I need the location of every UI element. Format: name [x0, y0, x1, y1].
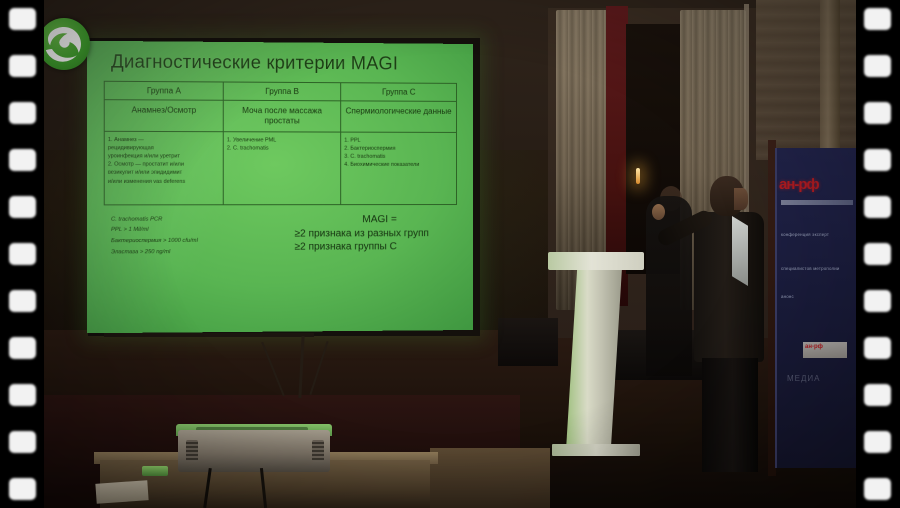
cell-a-line-5: везикулит и/или эпидидимит	[108, 169, 220, 177]
projector-body	[178, 430, 330, 472]
film-sprocket-hole	[9, 478, 36, 500]
banner-line-3: анонс	[781, 294, 794, 299]
table-cell-group-b: 1. Увеличение PML 2. C. trachomatis	[223, 132, 340, 205]
film-sprocket-hole	[864, 431, 891, 453]
film-sprocket-hole	[864, 196, 891, 218]
presenter-hand	[652, 204, 665, 220]
banner-title: ан-рф	[777, 176, 857, 193]
cell-a-line-6: и/или изменения vas deferens	[108, 177, 220, 185]
cell-c-line-1: 1. PPL	[344, 137, 453, 145]
cell-a-line-4: 2. Осмотр — простатит и/или	[108, 161, 220, 169]
film-sprocket-hole	[9, 8, 36, 30]
footnote-3: Бактериоспермия > 1000 cfu/ml	[111, 235, 286, 246]
table-row-criteria: 1. Анамнез — рецидивирующая уроинфекция …	[104, 131, 456, 204]
presenter-shirt	[732, 216, 748, 286]
film-sprocket-hole	[864, 243, 891, 265]
projector-remote	[142, 466, 168, 476]
film-sprocket-hole	[9, 337, 36, 359]
table-subheader-b: Моча после массажа простаты	[223, 100, 340, 132]
rollup-banner: ан-рф конференция эксперт специалистов м…	[775, 148, 857, 468]
film-sprocket-hole	[864, 290, 891, 312]
projector-vent-left	[186, 440, 198, 462]
film-sprocket-hole	[9, 431, 36, 453]
magi-equals-label: MAGI =	[290, 214, 460, 225]
podium-top-surface	[548, 252, 644, 270]
presenter	[690, 176, 772, 472]
film-sprocket-hole	[864, 55, 891, 77]
cell-c-line-4: 4. Биохимические показатели	[344, 161, 453, 169]
film-sprocket-hole	[864, 8, 891, 30]
film-sprocket-hole	[864, 337, 891, 359]
magi-definition-line-2: ≥2 признака группы С	[290, 240, 460, 254]
podium-base	[552, 444, 640, 456]
film-sprocket-hole	[9, 149, 36, 171]
table-header-group-c: Группа С	[341, 83, 457, 102]
magi-criteria-table: Группа А Группа В Группа С Анамнез/Осмот…	[104, 81, 457, 205]
cell-c-line-2: 2. Бактериоспермия	[344, 145, 453, 153]
green-circular-swirl-logo	[38, 18, 90, 70]
film-sprocket-hole	[864, 384, 891, 406]
film-sprocket-hole	[9, 55, 36, 77]
banner-line-1: конференция эксперт	[781, 232, 829, 237]
ornate-wall-panel	[756, 0, 858, 160]
screen-bottom-bar	[104, 333, 314, 337]
banner-footer-text: МЕДИА	[787, 374, 821, 383]
projection-screen: Диагностические критерии MAGI Группа А Г…	[87, 41, 473, 333]
table-cell-group-c: 1. PPL 2. Бактериоспермия 3. C. trachoma…	[341, 132, 457, 204]
cell-c-line-3: 3. C. trachomatis	[344, 153, 453, 161]
table-header-group-b: Группа В	[223, 82, 340, 101]
table-row-group-headers: Группа А Группа В Группа С	[104, 81, 456, 101]
presenter-face	[734, 188, 748, 210]
slide-title: Диагностические критерии MAGI	[99, 51, 462, 75]
film-sprocket-hole	[9, 196, 36, 218]
slide-footnotes: C. trachomatis PCR PPL > 1 Mil/ml Бактер…	[111, 214, 286, 258]
table-row-subheaders: Анамнез/Осмотр Моча после массажа проста…	[104, 100, 456, 133]
magi-definition: MAGI = ≥2 признака из разных групп ≥2 пр…	[290, 214, 460, 255]
slide-criteria-section: C. trachomatis PCR PPL > 1 Mil/ml Бактер…	[107, 214, 462, 276]
video-frame: Диагностические критерии MAGI Группа А Г…	[0, 0, 900, 508]
table-cell-group-a: 1. Анамнез — рецидивирующая уроинфекция …	[104, 131, 223, 204]
table-header-group-a: Группа А	[104, 81, 223, 100]
film-sprocket-hole	[9, 384, 36, 406]
film-sprocket-hole	[9, 243, 36, 265]
projector-vent-right	[312, 440, 324, 462]
cell-b-line-2: 2. C. trachomatis	[227, 145, 337, 153]
paper-sheet	[95, 480, 148, 504]
cell-b-line-1: 1. Увеличение PML	[227, 136, 337, 144]
side-table	[430, 448, 550, 508]
cell-a-line-1: 1. Анамнез —	[108, 136, 220, 145]
film-sprocket-hole	[864, 102, 891, 124]
cell-a-line-2: рецидивирующая	[108, 144, 220, 153]
filmstrip-left	[0, 0, 44, 508]
table-subheader-c: Спермиологические данные	[341, 101, 457, 133]
film-sprocket-hole	[9, 102, 36, 124]
film-sprocket-hole	[864, 478, 891, 500]
table-subheader-a: Анамнез/Осмотр	[104, 100, 223, 132]
presenter-legs	[702, 358, 758, 472]
candle-light	[636, 168, 640, 184]
footnote-4: Эластаза > 250 ng/ml	[111, 246, 286, 257]
footnote-1: C. trachomatis PCR	[111, 214, 286, 225]
footnote-2: PPL > 1 Mil/ml	[111, 225, 286, 236]
banner-logo-text: ан-рф	[805, 344, 823, 350]
equipment-box-left	[498, 318, 558, 366]
banner-line-2: специалистов метрополии	[781, 266, 840, 271]
cell-a-line-3: уроинфекция и/или уретрит	[108, 153, 220, 161]
film-sprocket-hole	[864, 149, 891, 171]
presentation-slide: Диагностические критерии MAGI Группа А Г…	[87, 41, 473, 333]
film-sprocket-hole	[9, 290, 36, 312]
banner-divider	[781, 200, 853, 205]
magi-definition-line-1: ≥2 признака из разных групп	[290, 227, 460, 241]
filmstrip-right	[856, 0, 900, 508]
presenter-torso	[694, 212, 764, 362]
